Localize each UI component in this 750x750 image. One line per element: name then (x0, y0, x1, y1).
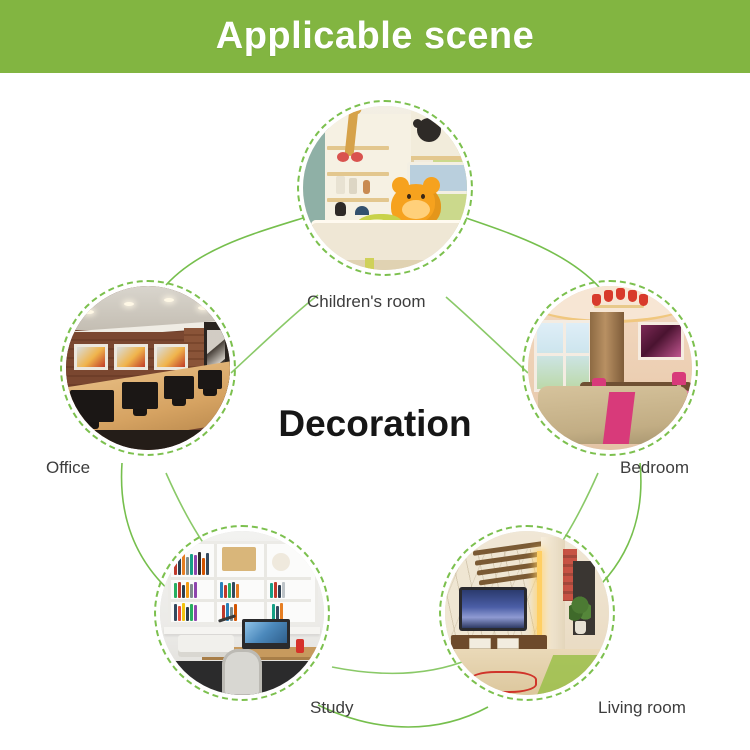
node-office[interactable] (60, 280, 236, 456)
bedroom-photo (528, 286, 692, 450)
node-bedroom[interactable] (522, 280, 698, 456)
office-photo (66, 286, 230, 450)
page-title: Applicable scene (216, 15, 534, 58)
label-children-room: Children's room (307, 292, 426, 312)
bedroom-illustration (528, 286, 692, 450)
study-photo (160, 531, 324, 695)
living-room-illustration (445, 531, 609, 695)
page-header: Applicable scene (0, 0, 750, 73)
study-illustration (160, 531, 324, 695)
living-room-photo (445, 531, 609, 695)
office-illustration (66, 286, 230, 450)
children-room-photo (303, 106, 467, 270)
label-study: Study (310, 698, 353, 718)
node-children-room[interactable] (297, 100, 473, 276)
node-living-room[interactable] (439, 525, 615, 701)
label-bedroom: Bedroom (620, 458, 689, 478)
children-room-illustration (303, 106, 467, 270)
node-study[interactable] (154, 525, 330, 701)
diagram-stage: Children's room (0, 73, 750, 750)
label-office: Office (46, 458, 90, 478)
label-living-room: Living room (598, 698, 686, 718)
